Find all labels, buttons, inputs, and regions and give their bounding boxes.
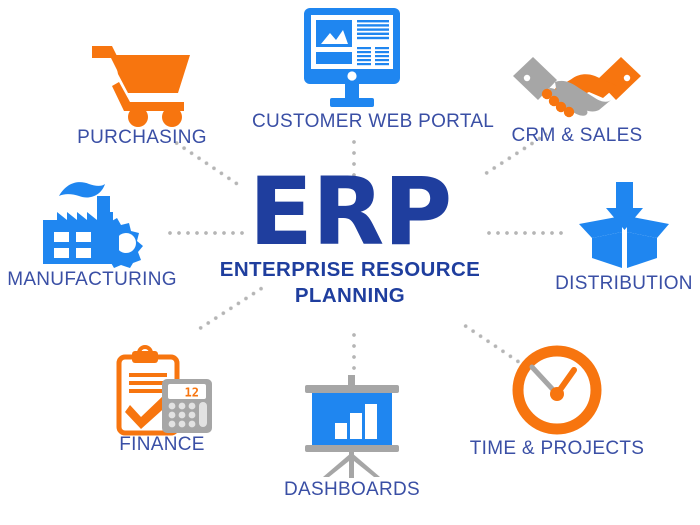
node-dashboards[interactable]: DASHBOARDS <box>252 375 452 501</box>
node-finance[interactable]: 12 FINANCE <box>62 345 262 456</box>
node-time-projects[interactable]: TIME & PROJECTS <box>457 344 657 460</box>
node-label-purchasing: PURCHASING <box>42 128 242 149</box>
presentation-chart-icon <box>287 375 417 478</box>
node-label-time-projects: TIME & PROJECTS <box>457 439 657 460</box>
node-label-customer-web-portal: CUSTOMER WEB PORTAL <box>252 112 452 133</box>
node-label-finance: FINANCE <box>62 435 262 456</box>
erp-diagram: ERP ENTERPRISE RESOURCE PLANNING PURCHAS… <box>0 0 700 525</box>
node-purchasing[interactable]: PURCHASING <box>42 38 242 149</box>
erp-subtitle-line1: ENTERPRISE RESOURCE <box>190 257 510 283</box>
handshake-icon <box>507 52 647 124</box>
clock-icon <box>502 344 612 437</box>
node-label-manufacturing: MANUFACTURING <box>0 270 192 291</box>
erp-center-block: ERP ENTERPRISE RESOURCE PLANNING <box>190 168 510 309</box>
svg-text:12: 12 <box>185 386 199 400</box>
node-customer-web-portal[interactable]: CUSTOMER WEB PORTAL <box>252 6 452 133</box>
shopping-cart-icon <box>86 38 198 126</box>
desktop-monitor-icon <box>278 6 426 110</box>
node-label-crm-sales: CRM & SALES <box>477 126 677 147</box>
node-manufacturing[interactable]: MANUFACTURING <box>0 178 192 291</box>
node-label-dashboards: DASHBOARDS <box>252 480 452 501</box>
node-label-distribution: DISTRIBUTION <box>524 274 700 295</box>
connector-dashboards <box>352 333 356 375</box>
node-crm-sales[interactable]: CRM & SALES <box>477 52 677 147</box>
node-distribution[interactable]: DISTRIBUTION <box>524 180 700 295</box>
open-box-arrow-icon <box>559 180 689 272</box>
page-title: ERP <box>190 168 510 257</box>
clipboard-calculator-icon: 12 <box>102 345 222 433</box>
erp-subtitle-line2: PLANNING <box>190 283 510 309</box>
factory-gear-icon <box>17 178 167 268</box>
